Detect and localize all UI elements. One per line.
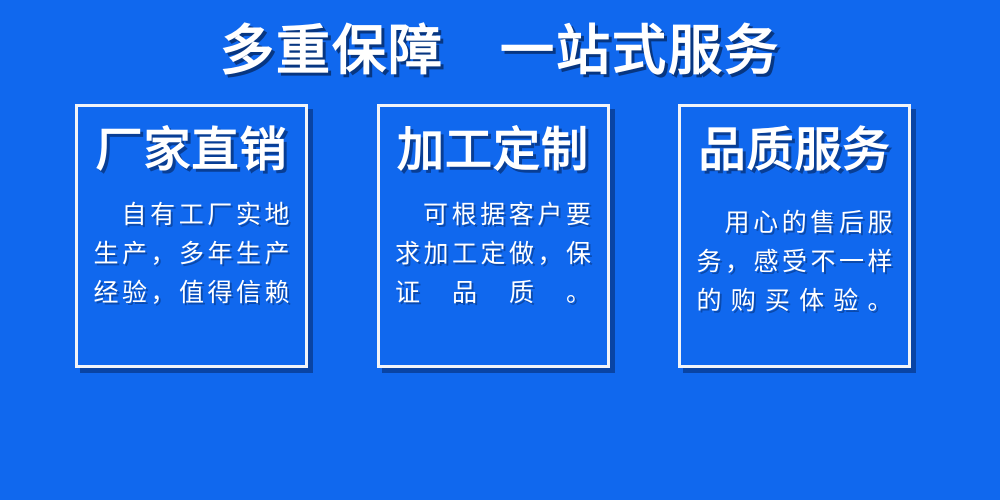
- banner-title: 多重保障 一站式服务: [0, 18, 1000, 84]
- feature-card: 品质服务 用心的售后服务，感受不一样的购买体验。: [678, 104, 911, 368]
- feature-card-list: 厂家直销 自有工厂实地生产，多年生产经验，值得信赖 加工定制 可根据客户要求加工…: [75, 104, 911, 368]
- promo-banner: 多重保障 一站式服务 厂家直销 自有工厂实地生产，多年生产经验，值得信赖 加工定…: [0, 0, 1000, 500]
- feature-card-body: 用心的售后服务，感受不一样的购买体验。: [697, 203, 893, 320]
- feature-card-title: 品质服务: [699, 121, 891, 181]
- feature-card-title: 厂家直销: [96, 121, 288, 181]
- feature-card-body: 自有工厂实地生产，多年生产经验，值得信赖: [94, 195, 290, 312]
- feature-card: 加工定制 可根据客户要求加工定做，保证品质。: [377, 104, 610, 368]
- feature-card-title: 加工定制: [397, 121, 589, 181]
- feature-card: 厂家直销 自有工厂实地生产，多年生产经验，值得信赖: [75, 104, 308, 368]
- feature-card-body: 可根据客户要求加工定做，保证品质。: [395, 195, 591, 312]
